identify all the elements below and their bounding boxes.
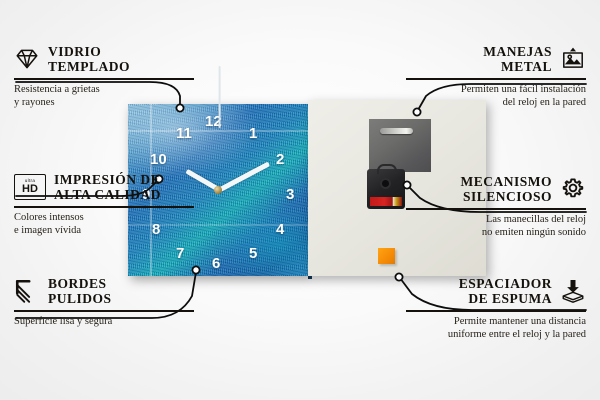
hanger-slot [380,128,413,134]
feature-title-line2: PULIDOS [48,291,112,306]
feature-title-line2: DE ESPUMA [459,291,552,306]
feature-title-line1: MECANISMO [461,174,553,189]
feature-subtitle-line1: Superficie lisa y segura [14,315,194,328]
feature-subtitle-line1: Colores intensos [14,211,194,224]
clock-numeral-7: 7 [176,246,184,261]
feature-title-line2: SILENCIOSO [461,189,553,204]
feature-vidrio-templado: VIDRIO TEMPLADO Resistencia a grietas y … [14,44,194,110]
ultra-hd-badge-large: HD [22,184,38,196]
feature-mecanismo-silencioso: MECANISMO SILENCIOSO Las manecillas del … [406,174,586,240]
feature-rule [406,208,586,210]
clock-second-hand [219,66,221,128]
feature-subtitle-line2: e imagen vívida [14,224,194,237]
gear-icon [560,176,586,202]
clock-numeral-2: 2 [276,152,284,167]
feature-title-line2: ALTA CALIDAD [54,187,161,202]
framed-picture-icon [560,46,586,72]
metal-hanger-plate [369,119,431,172]
feature-title-line2: METAL [483,59,552,74]
feature-title-line1: MANEJAS [483,44,552,59]
feature-espaciador-espuma: ESPACIADOR DE ESPUMA Permite mantener un… [406,276,586,342]
feature-title-line1: ESPACIADOR [459,276,552,291]
polished-edges-icon [14,278,40,304]
clock-numeral-6: 6 [212,256,220,271]
clock-minute-hand [218,162,270,193]
feature-bordes-pulidos: BORDES PULIDOS Superficie lisa y segura [14,276,194,328]
movement-hook [377,164,397,174]
feature-rule [14,78,194,80]
feature-rule [406,78,586,80]
feature-impresion-alta-calidad: ultra HD IMPRESIÓN DE ALTA CALIDAD Color… [14,172,194,238]
feature-subtitle-line2: no emiten ningún sonido [406,226,586,239]
clock-numeral-3: 3 [286,187,294,202]
clock-numeral-11: 11 [176,126,192,141]
feature-subtitle-line1: Permiten una fácil instalación [406,83,586,96]
feature-subtitle-line2: y rayones [14,96,194,109]
feature-rule [406,310,586,312]
foam-spacer [378,248,395,264]
clock-numeral-5: 5 [249,246,257,261]
clock-numeral-10: 10 [150,152,167,167]
ultra-hd-icon: ultra HD [14,174,46,200]
feature-rule [14,206,194,208]
clock-numeral-1: 1 [249,126,257,141]
feature-subtitle-line2: del reloj en la pared [406,96,586,109]
feature-rule [14,310,194,312]
feature-subtitle-line2: uniforme entre el reloj y la pared [406,328,586,341]
feature-title-line1: IMPRESIÓN DE [54,172,161,187]
foam-spacer-icon [560,278,586,304]
feature-subtitle-line1: Resistencia a grietas [14,83,194,96]
clock-center-cap [214,186,222,194]
feature-manejas-metal: MANEJAS METAL Permiten una fácil instala… [406,44,586,110]
clock-numeral-4: 4 [276,222,284,237]
infographic-canvas: 12 1 2 3 4 5 6 7 8 9 10 11 [0,0,600,400]
feature-title-line1: BORDES [48,276,112,291]
movement-shaft [382,180,389,187]
feature-title-line2: TEMPLADO [48,59,130,74]
quartz-movement-box [367,169,405,209]
feature-title-line1: VIDRIO [48,44,130,59]
feature-subtitle-line1: Permite mantener una distancia [406,315,586,328]
diamond-icon [14,46,40,72]
movement-label [370,197,402,206]
feature-subtitle-line1: Las manecillas del reloj [406,213,586,226]
